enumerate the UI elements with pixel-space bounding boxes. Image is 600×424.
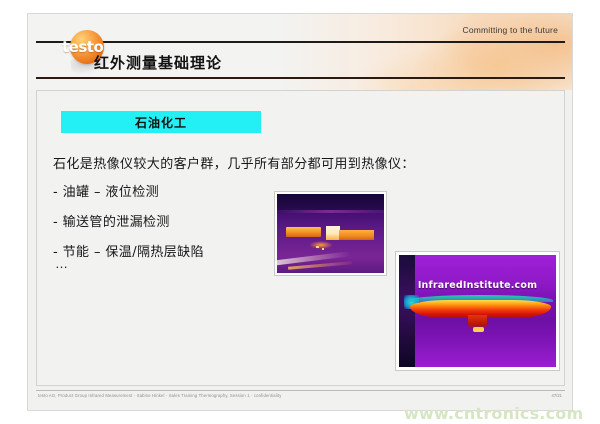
site-watermark: www.cntronics.com <box>404 404 583 423</box>
thermal-tank-left <box>286 227 321 237</box>
thermal-hotspot <box>309 241 333 248</box>
footer-text: testo AG, Product Group Infrared Measure… <box>38 393 458 398</box>
list-item: - 油罐 – 液位检测 <box>53 181 204 200</box>
footer-page-number: 47/21 <box>552 393 562 398</box>
screenshot-stage: Committing to the future testo 红外测量基础理论 … <box>0 0 600 424</box>
thermal-image-watermark-label: InfraredInstitute.com <box>399 280 556 291</box>
thermal-bright-spot <box>473 327 484 333</box>
list-continuation: … <box>55 256 70 271</box>
thermal-speck <box>322 248 324 250</box>
thermal-image-pipe-canvas: InfraredInstitute.com <box>399 255 556 367</box>
section-label: 石油化工 <box>135 114 187 131</box>
section-highlight-box: 石油化工 <box>61 111 261 133</box>
thermal-image-refinery-tanks <box>274 191 387 276</box>
thermal-sky-band <box>277 194 384 211</box>
header-bottom-rule <box>36 77 565 79</box>
header-top-rule <box>36 41 565 43</box>
thermal-tank-right <box>339 230 374 239</box>
thermal-horizon-band <box>277 210 384 213</box>
brand-tagline: Committing to the future <box>462 25 558 35</box>
footer-divider <box>36 390 565 391</box>
thermal-speck <box>316 246 319 248</box>
thermal-tank-center <box>326 226 340 240</box>
thermal-image-refinery-canvas <box>277 194 384 273</box>
bullet-list: - 油罐 – 液位检测 - 输送管的泄漏检测 - 节能 – 保温/隔热层缺陷 <box>53 181 204 271</box>
list-item: - 输送管的泄漏检测 <box>53 211 204 230</box>
slide-body: 石油化工 石化是热像仪较大的客户群，几乎所有部分都可用到热像仪： - 油罐 – … <box>36 90 565 386</box>
thermal-image-pipe-insulation: InfraredInstitute.com <box>395 251 560 371</box>
slide-header-banner: Committing to the future testo 红外测量基础理论 <box>28 14 572 90</box>
lead-paragraph: 石化是热像仪较大的客户群，几乎所有部分都可用到热像仪： <box>53 153 415 172</box>
list-item: - 节能 – 保温/隔热层缺陷 <box>53 241 204 260</box>
presentation-slide: Committing to the future testo 红外测量基础理论 … <box>27 13 573 411</box>
slide-title: 红外测量基础理论 <box>94 52 222 73</box>
